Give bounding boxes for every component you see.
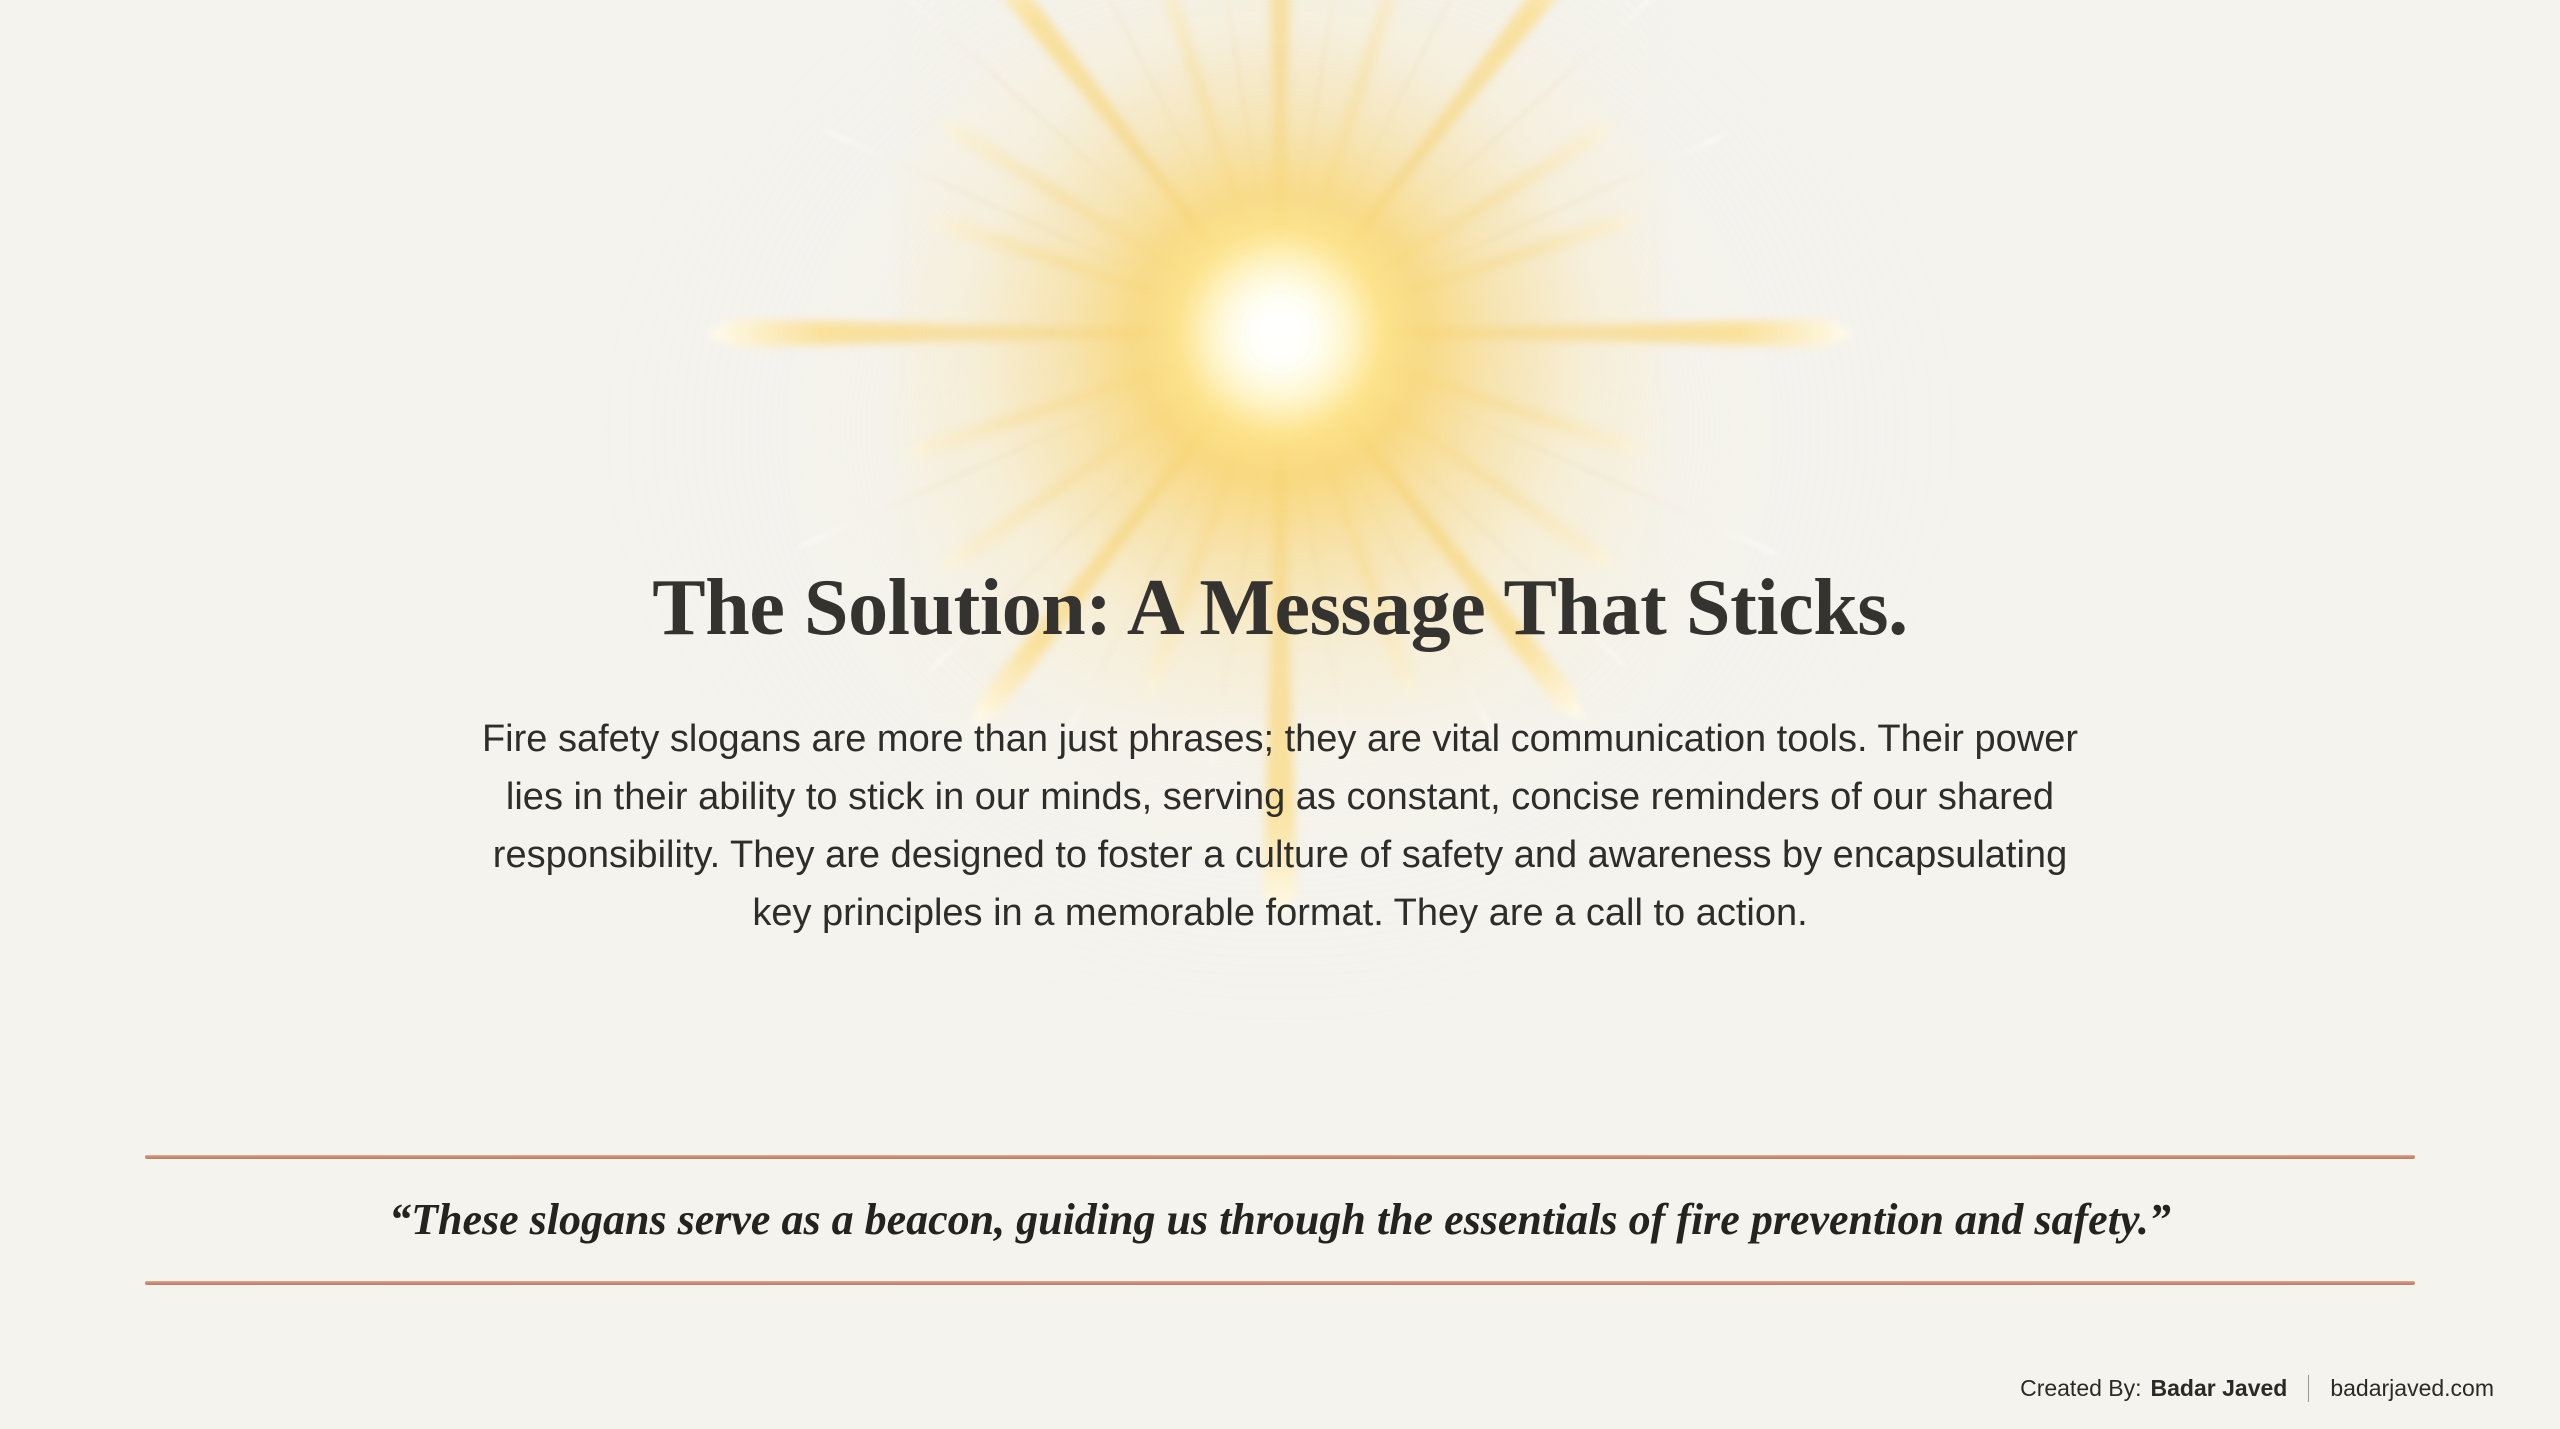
page-title: The Solution: A Message That Sticks. <box>230 568 2330 648</box>
credit-line: Created By: Badar Javed badarjaved.com <box>2020 1375 2494 1402</box>
quote-rule-bottom <box>145 1281 2415 1285</box>
quote-band: “These slogans serve as a beacon, guidin… <box>145 1155 2415 1285</box>
pull-quote: “These slogans serve as a beacon, guidin… <box>389 1196 2171 1244</box>
credit-website[interactable]: badarjaved.com <box>2330 1375 2494 1402</box>
body-paragraph: Fire safety slogans are more than just p… <box>480 710 2080 942</box>
credit-divider <box>2308 1375 2309 1402</box>
presentation-slide: The Solution: A Message That Sticks. Fir… <box>0 0 2560 1429</box>
credit-author-name: Badar Javed <box>2151 1375 2288 1402</box>
glow-nucleus <box>1165 218 1395 448</box>
quote-inner: “These slogans serve as a beacon, guidin… <box>145 1159 2415 1281</box>
credit-prefix: Created By: <box>2020 1375 2141 1402</box>
